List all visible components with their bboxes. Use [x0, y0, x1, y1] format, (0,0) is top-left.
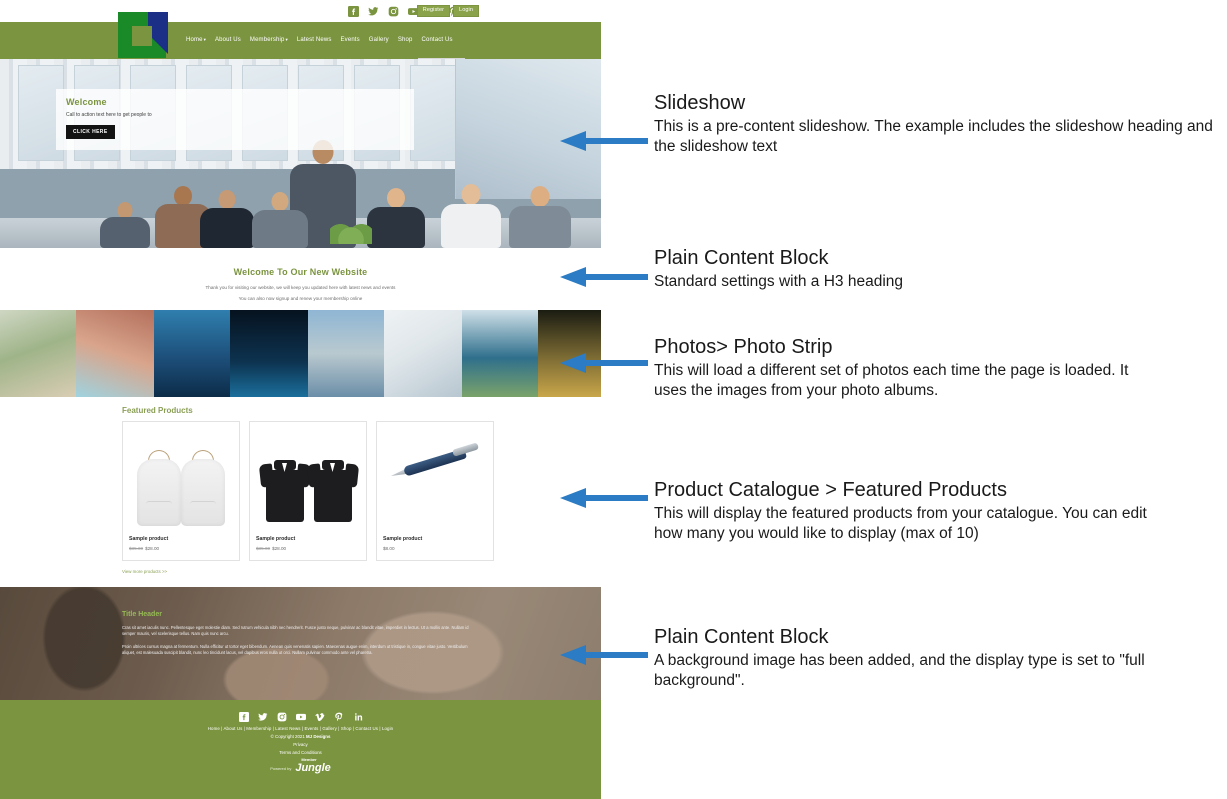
featured-products-section: Featured Products Sample product $35.00$… — [0, 397, 601, 587]
nav-item-contact-us[interactable]: Contact Us — [421, 37, 452, 43]
annotation-body: This will load a different set of photos… — [654, 361, 1134, 402]
content-block-2-heading: Title Header — [122, 611, 477, 618]
product-sale-price: $28.00 — [145, 546, 159, 551]
nav-item-home[interactable]: Home▾ — [186, 37, 206, 43]
copyright-brand: MJ Designs — [306, 734, 330, 739]
hero-slideshow[interactable]: Welcome Call to action text here to get … — [0, 59, 601, 248]
nav-label: Membership — [250, 37, 285, 43]
content-block-heading: Welcome To Our New Website — [0, 267, 601, 277]
product-card[interactable]: Sample product $8.00 — [376, 421, 494, 561]
product-old-price: $35.00 — [129, 546, 143, 551]
member-jungle-logo-main: Jungle — [295, 762, 330, 774]
content-block-2-paragraph-1: Cras sit amet iaculis nunc. Pellentesque… — [122, 625, 477, 637]
powered-by-label: Powered by — [270, 766, 291, 771]
powered-by-block: Powered by Member Jungle — [0, 763, 601, 774]
annotation-slideshow: Slideshow This is a pre-content slidesho… — [654, 92, 1214, 158]
nav-item-membership[interactable]: Membership▾ — [250, 37, 288, 43]
annotation-title: Photos> Photo Strip — [654, 336, 1134, 359]
annotation-content-block-2: Plain Content Block A background image h… — [654, 626, 1226, 692]
annotation-photo-strip: Photos> Photo Strip This will load a dif… — [654, 336, 1134, 402]
nav-item-latest-news[interactable]: Latest News — [297, 37, 332, 43]
product-sale-price: $8.00 — [383, 546, 395, 551]
annotation-title: Plain Content Block — [654, 626, 1226, 649]
site-logo[interactable] — [112, 8, 174, 60]
product-price: $35.00$28.00 — [129, 546, 233, 551]
annotation-body: A background image has been added, and t… — [654, 651, 1226, 692]
footer-privacy-link[interactable]: Privacy — [0, 742, 601, 747]
nav-item-events[interactable]: Events — [341, 37, 360, 43]
callout-arrow-content-block-2 — [556, 642, 648, 668]
youtube-icon[interactable] — [296, 709, 306, 719]
slideshow-photo-office-meeting — [0, 59, 601, 248]
content-block-line-2: You can also now signup and renew your m… — [0, 296, 601, 301]
slideshow-caption: Welcome Call to action text here to get … — [56, 89, 414, 150]
facebook-icon[interactable] — [348, 6, 359, 17]
annotation-body: This is a pre-content slideshow. The exa… — [654, 117, 1214, 158]
nav-item-shop[interactable]: Shop — [398, 37, 413, 43]
site-footer: Home | About Us | Membership | Latest Ne… — [0, 700, 601, 799]
callout-arrow-content-block-1 — [556, 264, 648, 290]
photo-strip-item[interactable] — [0, 310, 76, 397]
annotation-title: Slideshow — [654, 92, 1214, 115]
annotation-featured-products: Product Catalogue > Featured Products Th… — [654, 479, 1174, 545]
instagram-icon[interactable] — [388, 6, 399, 17]
footer-copyright: © Copyright 2021 MJ Designs — [0, 734, 601, 739]
content-block-line-1: Thank you for visiting our website, we w… — [0, 285, 601, 290]
slideshow-text: Call to action text here to get people t… — [66, 112, 404, 118]
product-name: Sample product — [383, 536, 487, 542]
twitter-icon[interactable] — [258, 709, 268, 719]
auth-buttons: Register Login — [417, 5, 479, 17]
nav-item-gallery[interactable]: Gallery — [369, 37, 389, 43]
register-button[interactable]: Register — [417, 5, 450, 17]
login-button[interactable]: Login — [453, 5, 479, 17]
content-block-2-body: Title Header Cras sit amet iaculis nunc.… — [122, 611, 477, 657]
featured-products-grid: Sample product $35.00$28.00 Sam — [122, 421, 494, 561]
linkedin-icon[interactable] — [353, 709, 363, 719]
product-image-polo-shirts — [250, 422, 366, 530]
website-preview: Register Login Home▾ About Us Membership… — [0, 0, 601, 799]
product-info: Sample product $35.00$28.00 — [123, 530, 239, 560]
slideshow-heading: Welcome — [66, 97, 404, 107]
callout-arrow-slideshow — [556, 128, 648, 154]
plain-content-block-2: Title Header Cras sit amet iaculis nunc.… — [0, 587, 601, 700]
nav-item-about-us[interactable]: About Us — [215, 37, 241, 43]
product-info: Sample product $35.00$28.00 — [250, 530, 366, 560]
callout-arrow-featured-products — [556, 485, 648, 511]
instagram-icon[interactable] — [277, 709, 287, 719]
footer-social-links — [0, 709, 601, 719]
content-block-2-paragraph-2: Proin ultrices cursus magna at fermentum… — [122, 644, 477, 656]
copyright-text: © Copyright 2021 — [271, 734, 306, 739]
member-jungle-logo-top: Member — [301, 758, 316, 762]
product-old-price: $35.00 — [256, 546, 270, 551]
callout-arrow-photo-strip — [556, 350, 648, 376]
photo-strip-item[interactable] — [462, 310, 538, 397]
product-price: $35.00$28.00 — [256, 546, 360, 551]
pinterest-icon[interactable] — [334, 709, 344, 719]
product-image-pen — [377, 422, 493, 530]
vimeo-icon[interactable] — [315, 709, 325, 719]
product-image-hoodies — [123, 422, 239, 530]
facebook-icon[interactable] — [239, 709, 249, 719]
plain-content-block-1: Welcome To Our New Website Thank you for… — [0, 248, 601, 310]
product-card[interactable]: Sample product $35.00$28.00 — [122, 421, 240, 561]
product-card[interactable]: Sample product $35.00$28.00 — [249, 421, 367, 561]
photo-strip-item[interactable] — [384, 310, 462, 397]
nav-label: Home — [186, 37, 203, 43]
annotation-content-block-1: Plain Content Block Standard settings wi… — [654, 247, 1214, 292]
screenshot-root: Register Login Home▾ About Us Membership… — [0, 0, 1227, 799]
chevron-down-icon: ▾ — [285, 37, 287, 42]
view-more-products-link[interactable]: View more products >> — [122, 569, 167, 574]
nav-links: Home▾ About Us Membership▾ Latest News E… — [186, 37, 453, 43]
product-info: Sample product $8.00 — [377, 530, 493, 560]
twitter-icon[interactable] — [368, 6, 379, 17]
annotation-title: Plain Content Block — [654, 247, 1214, 270]
main-nav-bar: Home▾ About Us Membership▾ Latest News E… — [0, 22, 601, 59]
product-name: Sample product — [256, 536, 360, 542]
photo-strip-item[interactable] — [154, 310, 230, 397]
annotation-body: Standard settings with a H3 heading — [654, 272, 1214, 292]
photo-strip[interactable] — [0, 310, 601, 397]
chevron-down-icon: ▾ — [204, 37, 206, 42]
featured-products-heading: Featured Products — [122, 406, 193, 415]
product-name: Sample product — [129, 536, 233, 542]
product-price: $8.00 — [383, 546, 487, 551]
annotation-body: This will display the featured products … — [654, 504, 1174, 545]
utility-top-bar: Register Login — [0, 0, 601, 22]
footer-links[interactable]: Home | About Us | Membership | Latest Ne… — [0, 726, 601, 731]
slideshow-cta-button[interactable]: CLICK HERE — [66, 125, 115, 139]
photo-strip-item[interactable] — [230, 310, 308, 397]
photo-strip-item[interactable] — [308, 310, 384, 397]
photo-strip-item[interactable] — [76, 310, 154, 397]
annotation-title: Product Catalogue > Featured Products — [654, 479, 1174, 502]
product-sale-price: $28.00 — [272, 546, 286, 551]
member-jungle-logo[interactable]: Member Jungle — [295, 763, 330, 774]
footer-terms-link[interactable]: Terms and Conditions — [0, 750, 601, 755]
